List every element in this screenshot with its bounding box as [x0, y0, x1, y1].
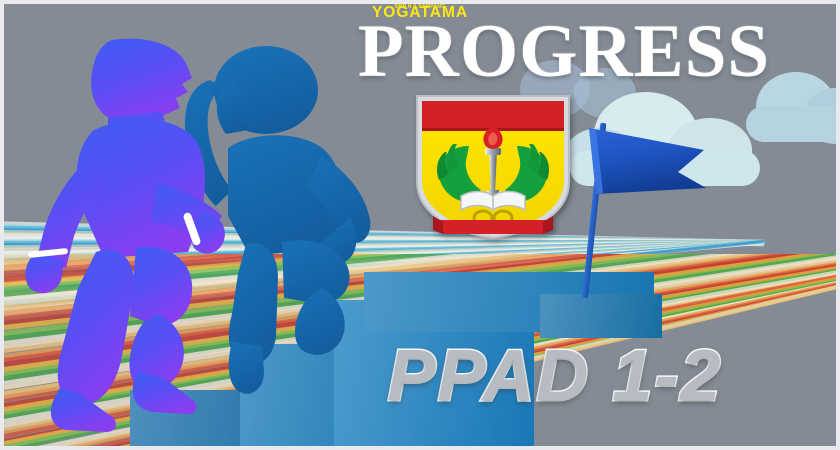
person-climbing-icon — [12, 26, 302, 446]
poster-canvas: YOGATAMA SMP N 2 SAMPANG PROGRESS PPAD 1… — [0, 0, 840, 450]
stair-step — [540, 294, 662, 338]
class-wordmark: PPAD 1-2 — [282, 334, 828, 418]
school-crest-logo — [409, 90, 577, 242]
pennant-flag-icon — [586, 124, 710, 198]
page-title: PROGRESS — [294, 10, 834, 94]
